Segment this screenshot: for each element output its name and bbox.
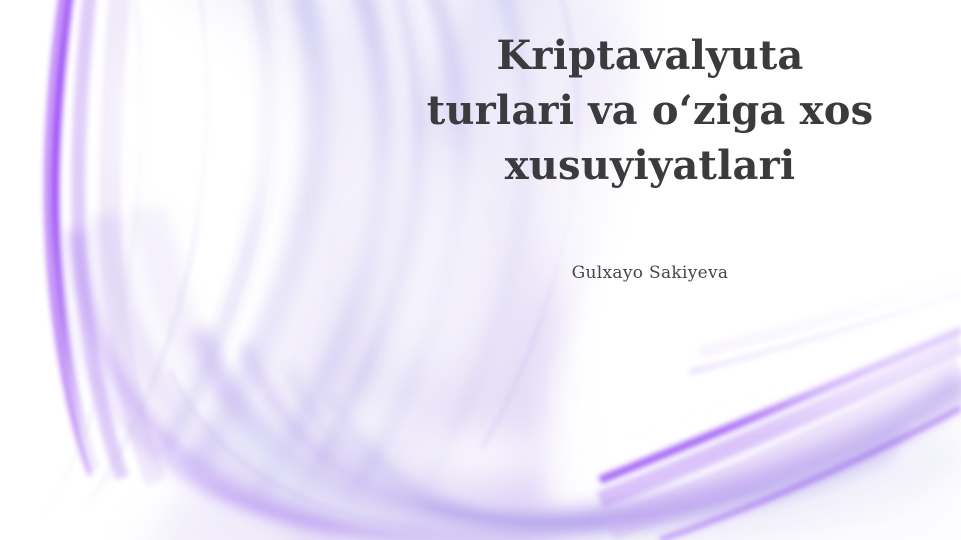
page-title: Kriptavalyuta turlari va oʻziga xos xusu… bbox=[360, 28, 940, 194]
author-name: Gulxayo Sakiyeva bbox=[360, 262, 940, 284]
title-slide: Kriptavalyuta turlari va oʻziga xos xusu… bbox=[0, 0, 961, 540]
title-block: Kriptavalyuta turlari va oʻziga xos xusu… bbox=[360, 28, 940, 194]
slide-text-layer: Kriptavalyuta turlari va oʻziga xos xusu… bbox=[0, 0, 961, 540]
subtitle-block: Gulxayo Sakiyeva bbox=[360, 262, 940, 284]
